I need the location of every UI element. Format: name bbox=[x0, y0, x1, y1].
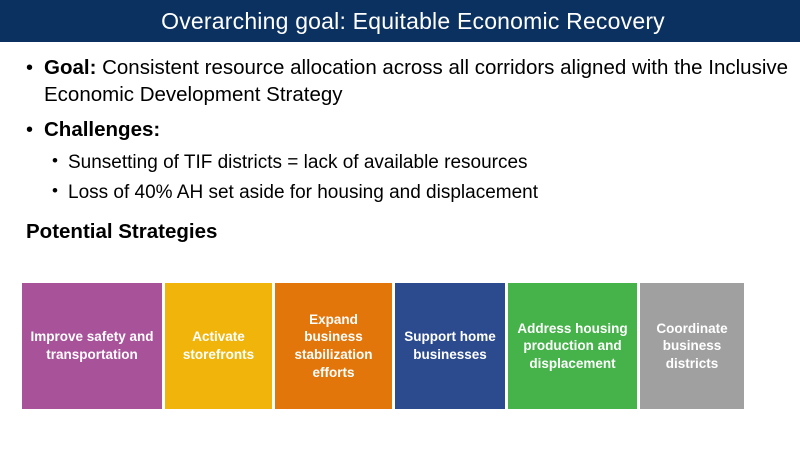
bullet-marker-icon: • bbox=[52, 180, 68, 203]
strategy-box-activate-storefronts[interactable]: Activate storefronts bbox=[165, 283, 272, 409]
bullet-goal: • Goal: Consistent resource allocation a… bbox=[26, 42, 800, 108]
slide-body: • Goal: Consistent resource allocation a… bbox=[0, 42, 800, 450]
strategy-box-expand-business-stabilization[interactable]: Expand business stabilization efforts bbox=[275, 283, 392, 409]
strategy-box-support-home-businesses[interactable]: Support home businesses bbox=[395, 283, 505, 409]
bullet-goal-text: Goal: Consistent resource allocation acr… bbox=[44, 55, 789, 108]
bullet-goal-body: Consistent resource allocation across al… bbox=[44, 56, 788, 106]
strategy-box-label: Improve safety and transportation bbox=[27, 328, 157, 363]
bullet-marker-icon: • bbox=[52, 150, 68, 173]
bullet-tif-districts-text: Sunsetting of TIF districts = lack of av… bbox=[68, 150, 800, 175]
bullet-tif-districts: • Sunsetting of TIF districts = lack of … bbox=[52, 144, 800, 175]
strategy-box-label: Address housing production and displacem… bbox=[513, 320, 632, 373]
page-title: Overarching goal: Equitable Economic Rec… bbox=[135, 10, 665, 33]
bullet-ah-set-aside-text: Loss of 40% AH set aside for housing and… bbox=[68, 180, 800, 205]
bullet-challenges-text: Challenges: bbox=[44, 117, 789, 144]
strategy-box-improve-safety[interactable]: Improve safety and transportation bbox=[22, 283, 162, 409]
strategy-box-coordinate-business-districts[interactable]: Coordinate business districts bbox=[640, 283, 744, 409]
bullet-marker-icon: • bbox=[26, 55, 44, 81]
potential-strategies-heading: Potential Strategies bbox=[26, 220, 800, 245]
slide-title-bar: Overarching goal: Equitable Economic Rec… bbox=[0, 0, 800, 42]
bullet-challenges: • Challenges: bbox=[26, 108, 800, 144]
strategy-box-label: Coordinate business districts bbox=[645, 320, 739, 373]
strategy-box-address-housing-production[interactable]: Address housing production and displacem… bbox=[508, 283, 637, 409]
bullet-marker-icon: • bbox=[26, 117, 44, 143]
bullet-challenges-lead: Challenges: bbox=[44, 118, 160, 141]
strategy-boxes-row: Improve safety and transportation Activa… bbox=[22, 283, 744, 409]
bullet-goal-lead: Goal: bbox=[44, 56, 96, 79]
strategy-box-label: Support home businesses bbox=[400, 328, 500, 363]
bullet-ah-set-aside: • Loss of 40% AH set aside for housing a… bbox=[52, 175, 800, 205]
strategy-box-label: Expand business stabilization efforts bbox=[280, 311, 387, 381]
strategy-box-label: Activate storefronts bbox=[170, 328, 267, 363]
